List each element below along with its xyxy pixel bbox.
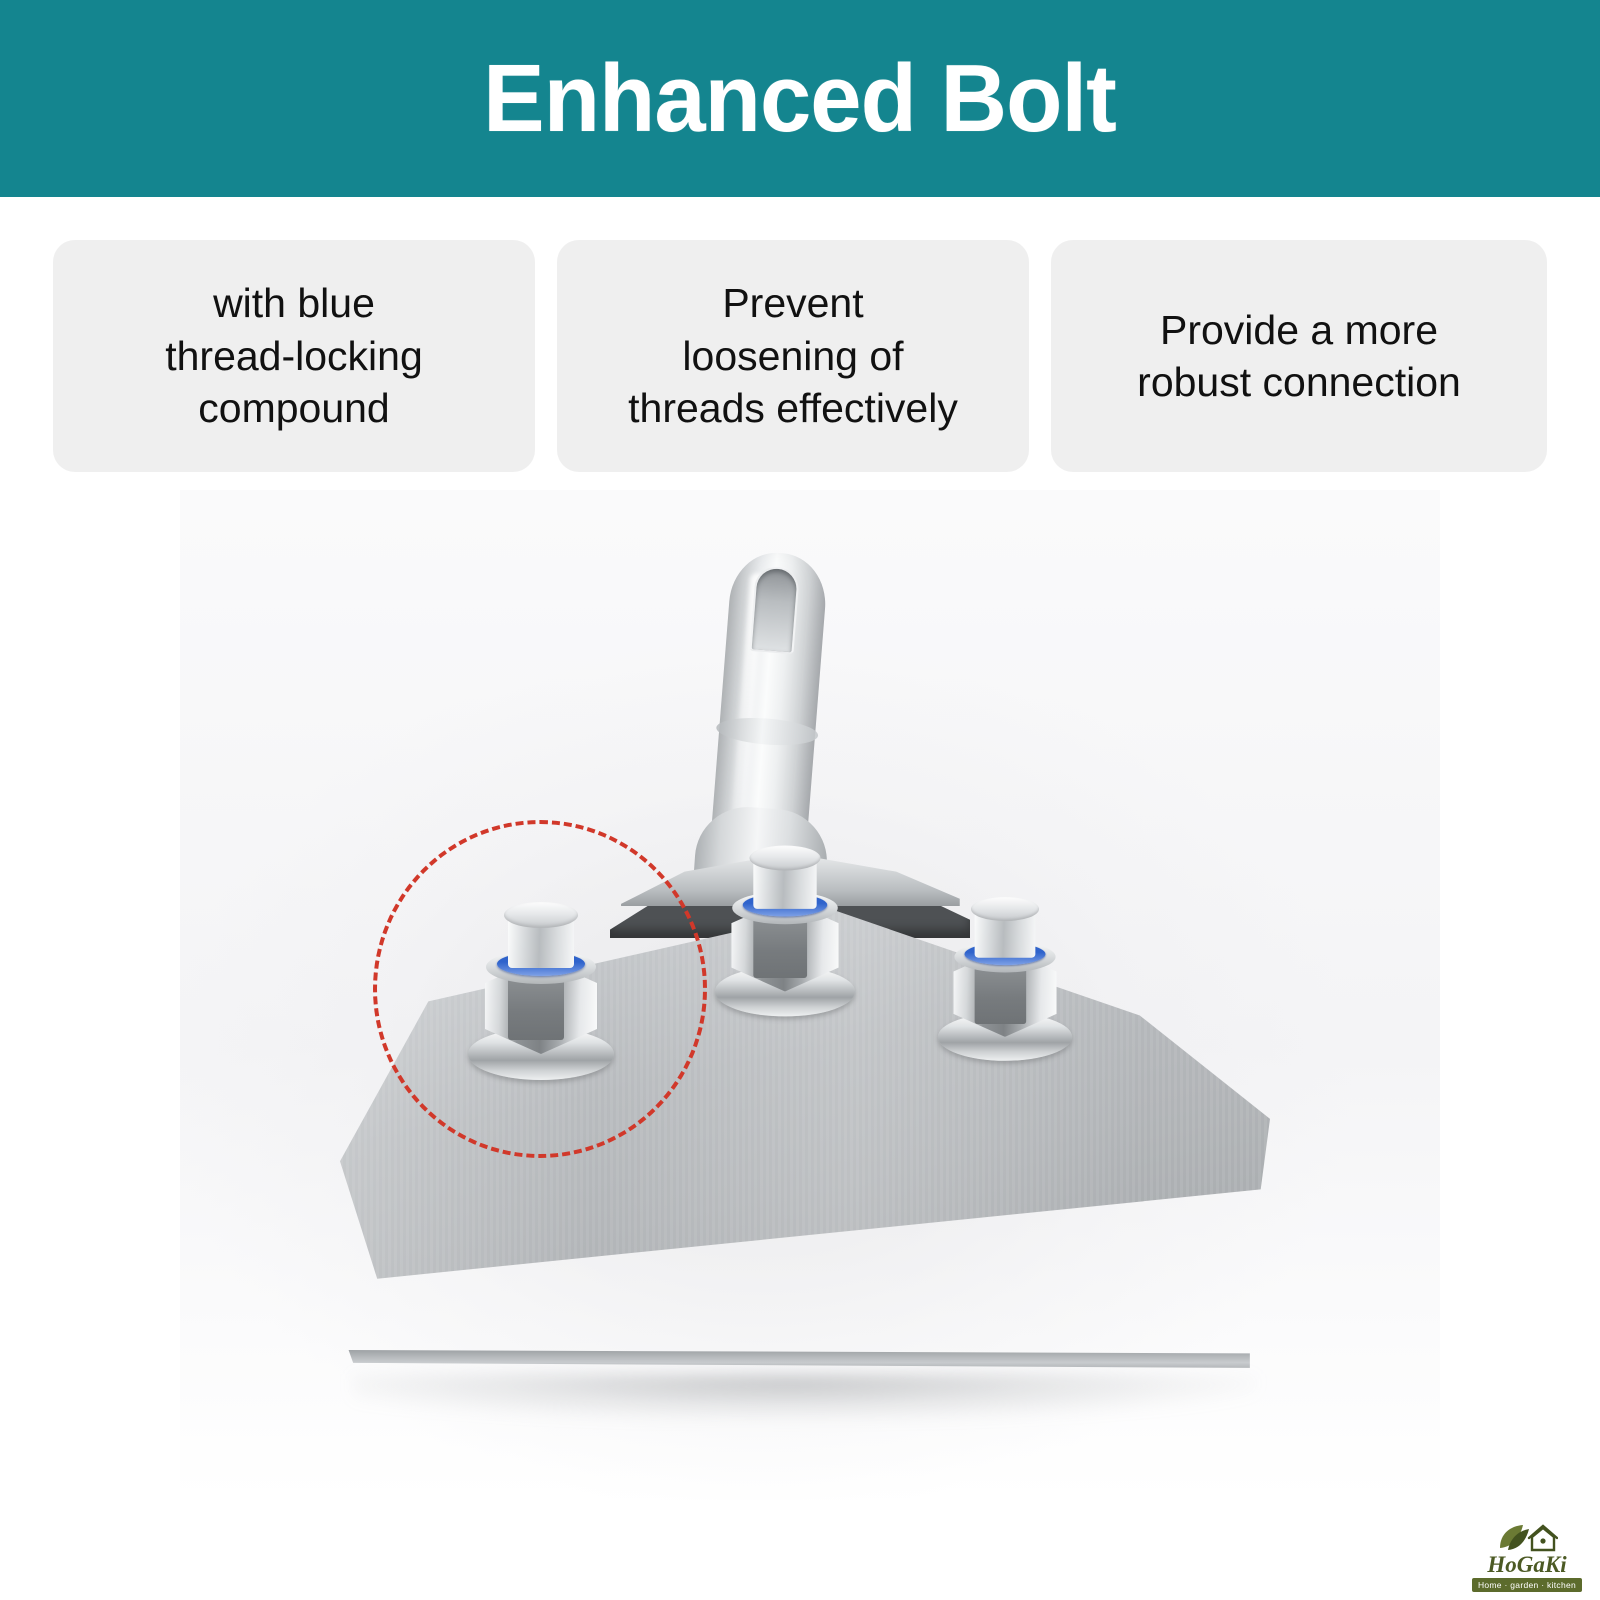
bolt-cap [749,846,820,871]
bolt-middle [715,844,855,1017]
feature-card-list: with blue thread-locking compound Preven… [53,240,1547,472]
page-title: Enhanced Bolt [484,51,1117,147]
feature-card-text: Provide a more robust connection [1137,304,1461,409]
header-banner: Enhanced Bolt [0,0,1600,197]
product-photo [0,490,1600,1500]
bolt-hex-front-face [753,918,807,978]
brand-tagline: Home · garden · kitchen [1472,1578,1582,1592]
brand-name: HoGaKi [1487,1553,1566,1576]
bolt-hex-front-face [975,967,1027,1024]
feature-card-blue-thread-locking-compound: with blue thread-locking compound [53,240,535,472]
handle-slot [749,565,800,654]
brand-logo: HoGaKi Home · garden · kitchen [1468,1520,1586,1592]
feature-card-prevent-loosening: Prevent loosening of threads effectively [557,240,1029,472]
blade-shadow [352,1374,1257,1420]
feature-card-robust-connection: Provide a more robust connection [1051,240,1547,472]
house-with-leaves-icon [1496,1522,1558,1552]
bolt-right [938,895,1072,1061]
highlight-dashed-circle [373,820,707,1158]
feature-card-text: Prevent loosening of threads effectively [628,277,958,434]
bolt-cap [971,897,1039,921]
feature-card-text: with blue thread-locking compound [165,277,423,434]
